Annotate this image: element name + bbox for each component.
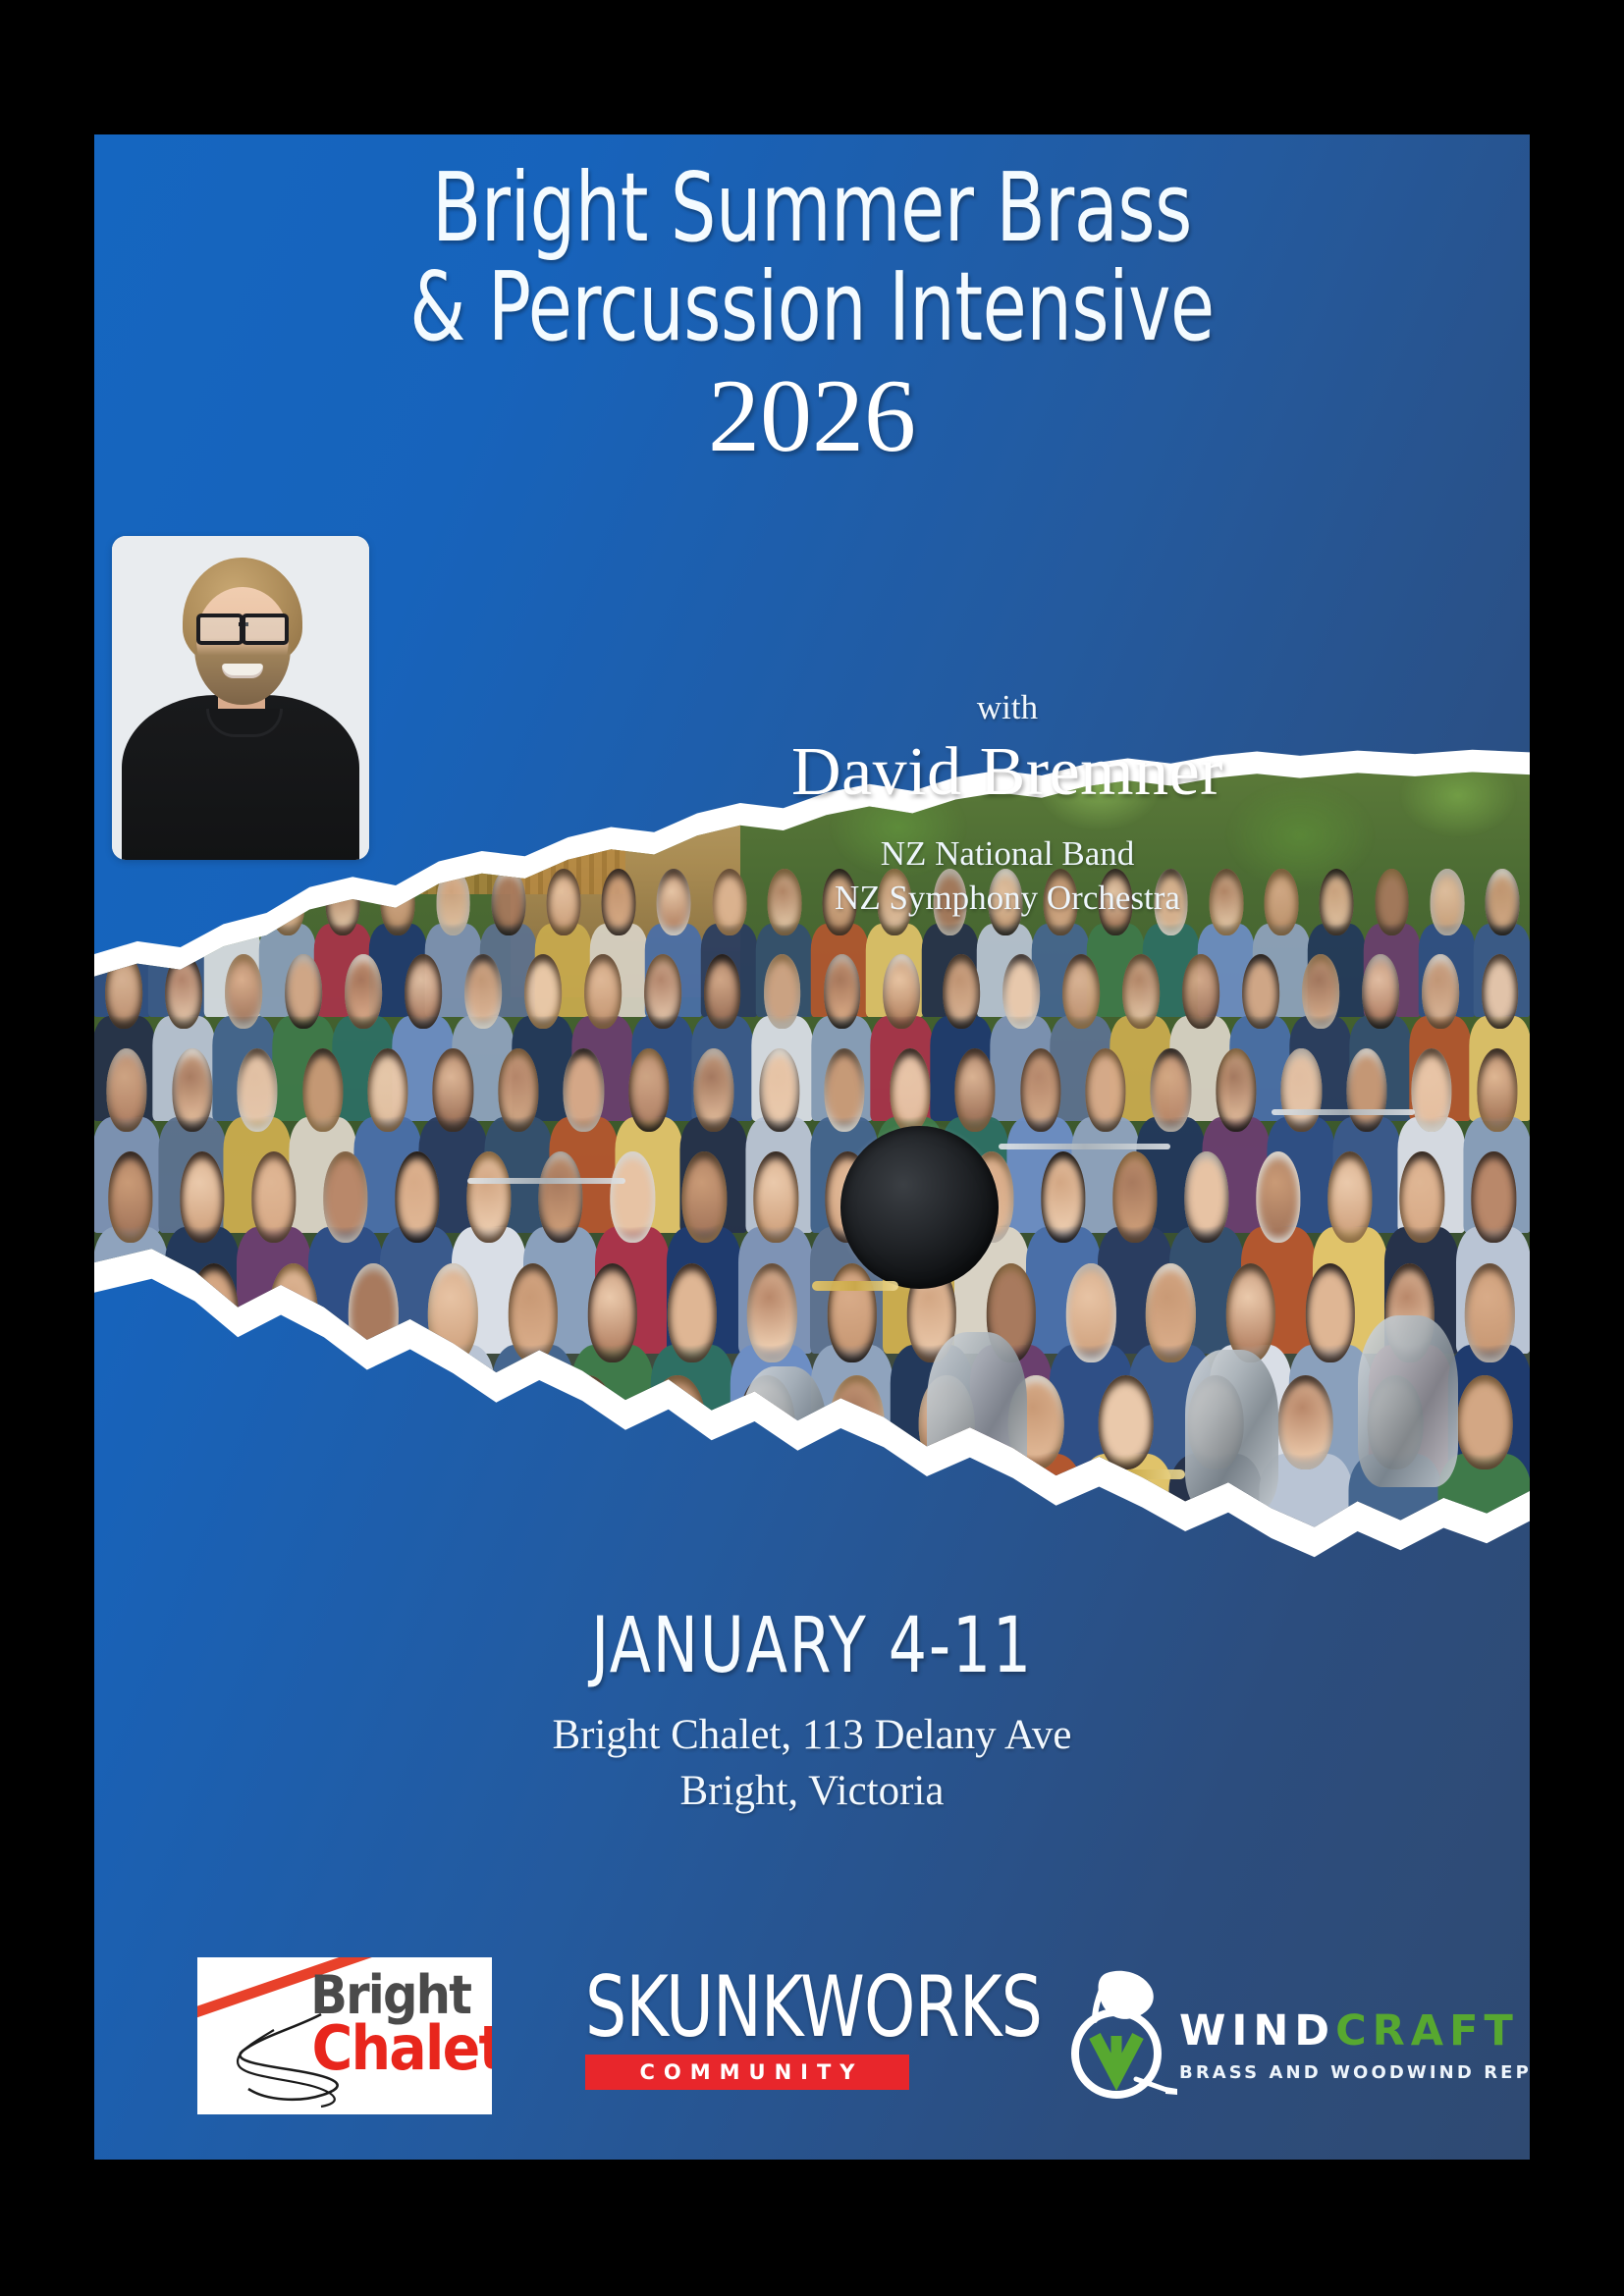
photo-instrument	[1185, 1350, 1278, 1513]
windcraft-tagline: BRASS AND WOODWIND REPAIR	[1179, 2062, 1530, 2083]
photo-instrument	[467, 1178, 625, 1184]
photo-person	[94, 1263, 174, 1478]
poster-frame: Bright Summer Brass & Percussion Intensi…	[0, 0, 1624, 2296]
photo-person	[493, 1263, 572, 1478]
skunkworks-tagline: COMMUNITY	[630, 2060, 863, 2084]
photo-person	[812, 1263, 892, 1478]
title-block: Bright Summer Brass & Percussion Intensi…	[94, 134, 1530, 468]
photo-person	[632, 1375, 722, 1581]
photo-person	[812, 1375, 901, 1581]
windcraft-wordmark: WINDCRAFT	[1179, 2010, 1530, 2053]
photo-instrument	[1272, 1109, 1415, 1115]
photo-person	[334, 1263, 413, 1478]
presenter-portrait	[112, 536, 369, 860]
photo-instrument	[927, 1332, 1027, 1504]
photo-person	[238, 1151, 309, 1349]
windcraft-word-1: WIND	[1179, 2006, 1335, 2056]
photo-person	[454, 1375, 543, 1581]
title-year: 2026	[94, 364, 1530, 468]
photo-person	[363, 1375, 453, 1581]
presenter-name: David Bremner	[516, 734, 1498, 811]
portrait-smile	[222, 664, 263, 678]
photo-person	[274, 1375, 363, 1581]
photo-instrument	[1358, 1315, 1458, 1487]
photo-person	[184, 1375, 273, 1581]
photo-instrument	[812, 1281, 898, 1291]
photo-person	[653, 1263, 732, 1478]
french-horn-icon	[1061, 1963, 1181, 2101]
photo-instrument	[324, 1469, 439, 1479]
photo-person	[166, 1151, 238, 1349]
photo-person	[94, 1151, 166, 1349]
photo-person	[543, 1375, 632, 1581]
bright-chalet-logo[interactable]: Bright Chalet	[197, 1957, 492, 2114]
photo-instrument	[381, 1384, 474, 1547]
title-line-1: Bright Summer Brass	[209, 160, 1415, 257]
windcraft-text: WINDCRAFT BRASS AND WOODWIND REPAIR	[1179, 2010, 1530, 2083]
sponsor-logos: Bright Chalet SKUNKWORKS COMMUNITY	[94, 1951, 1530, 2138]
bright-chalet-word-2: Chalet	[311, 2018, 492, 2079]
presenter-credit-1: NZ National Band	[516, 832, 1498, 877]
skunkworks-community-bar: COMMUNITY	[585, 2055, 909, 2090]
glasses-icon	[194, 614, 291, 637]
photo-instrument	[1070, 1469, 1185, 1479]
event-details: JANUARY 4-11 Bright Chalet, 113 Delany A…	[94, 1608, 1530, 1820]
with-label: with	[516, 690, 1498, 724]
skunkworks-logo[interactable]: SKUNKWORKS COMMUNITY	[585, 1967, 958, 2105]
presenter-credit-2: NZ Symphony Orchestra	[516, 877, 1498, 921]
photo-person	[94, 1375, 184, 1581]
photo-instrument	[740, 1366, 827, 1522]
photo-instrument	[840, 1126, 999, 1289]
photo-instrument	[669, 1487, 769, 1497]
photo-person	[174, 1263, 253, 1478]
photo-person	[413, 1263, 493, 1478]
venue-line-1: Bright Chalet, 113 Delany Ave	[94, 1708, 1530, 1764]
windcraft-logo[interactable]: WINDCRAFT BRASS AND WOODWIND REPAIR	[1061, 1959, 1503, 2116]
photo-instrument	[209, 1350, 309, 1522]
photo-instrument	[999, 1144, 1170, 1149]
poster-canvas: Bright Summer Brass & Percussion Intensi…	[94, 134, 1530, 2160]
event-dates: JANUARY 4-11	[181, 1608, 1444, 1684]
title-line-2: & Percussion Intensive	[209, 259, 1415, 356]
photo-person	[253, 1263, 333, 1478]
skunkworks-wordmark: SKUNKWORKS	[585, 1967, 906, 2049]
windcraft-word-2: CRAFT	[1335, 2006, 1519, 2056]
photo-person	[572, 1263, 652, 1478]
presenter-block: with David Bremner NZ National Band NZ S…	[516, 690, 1498, 921]
venue-line-2: Bright, Victoria	[94, 1764, 1530, 1820]
